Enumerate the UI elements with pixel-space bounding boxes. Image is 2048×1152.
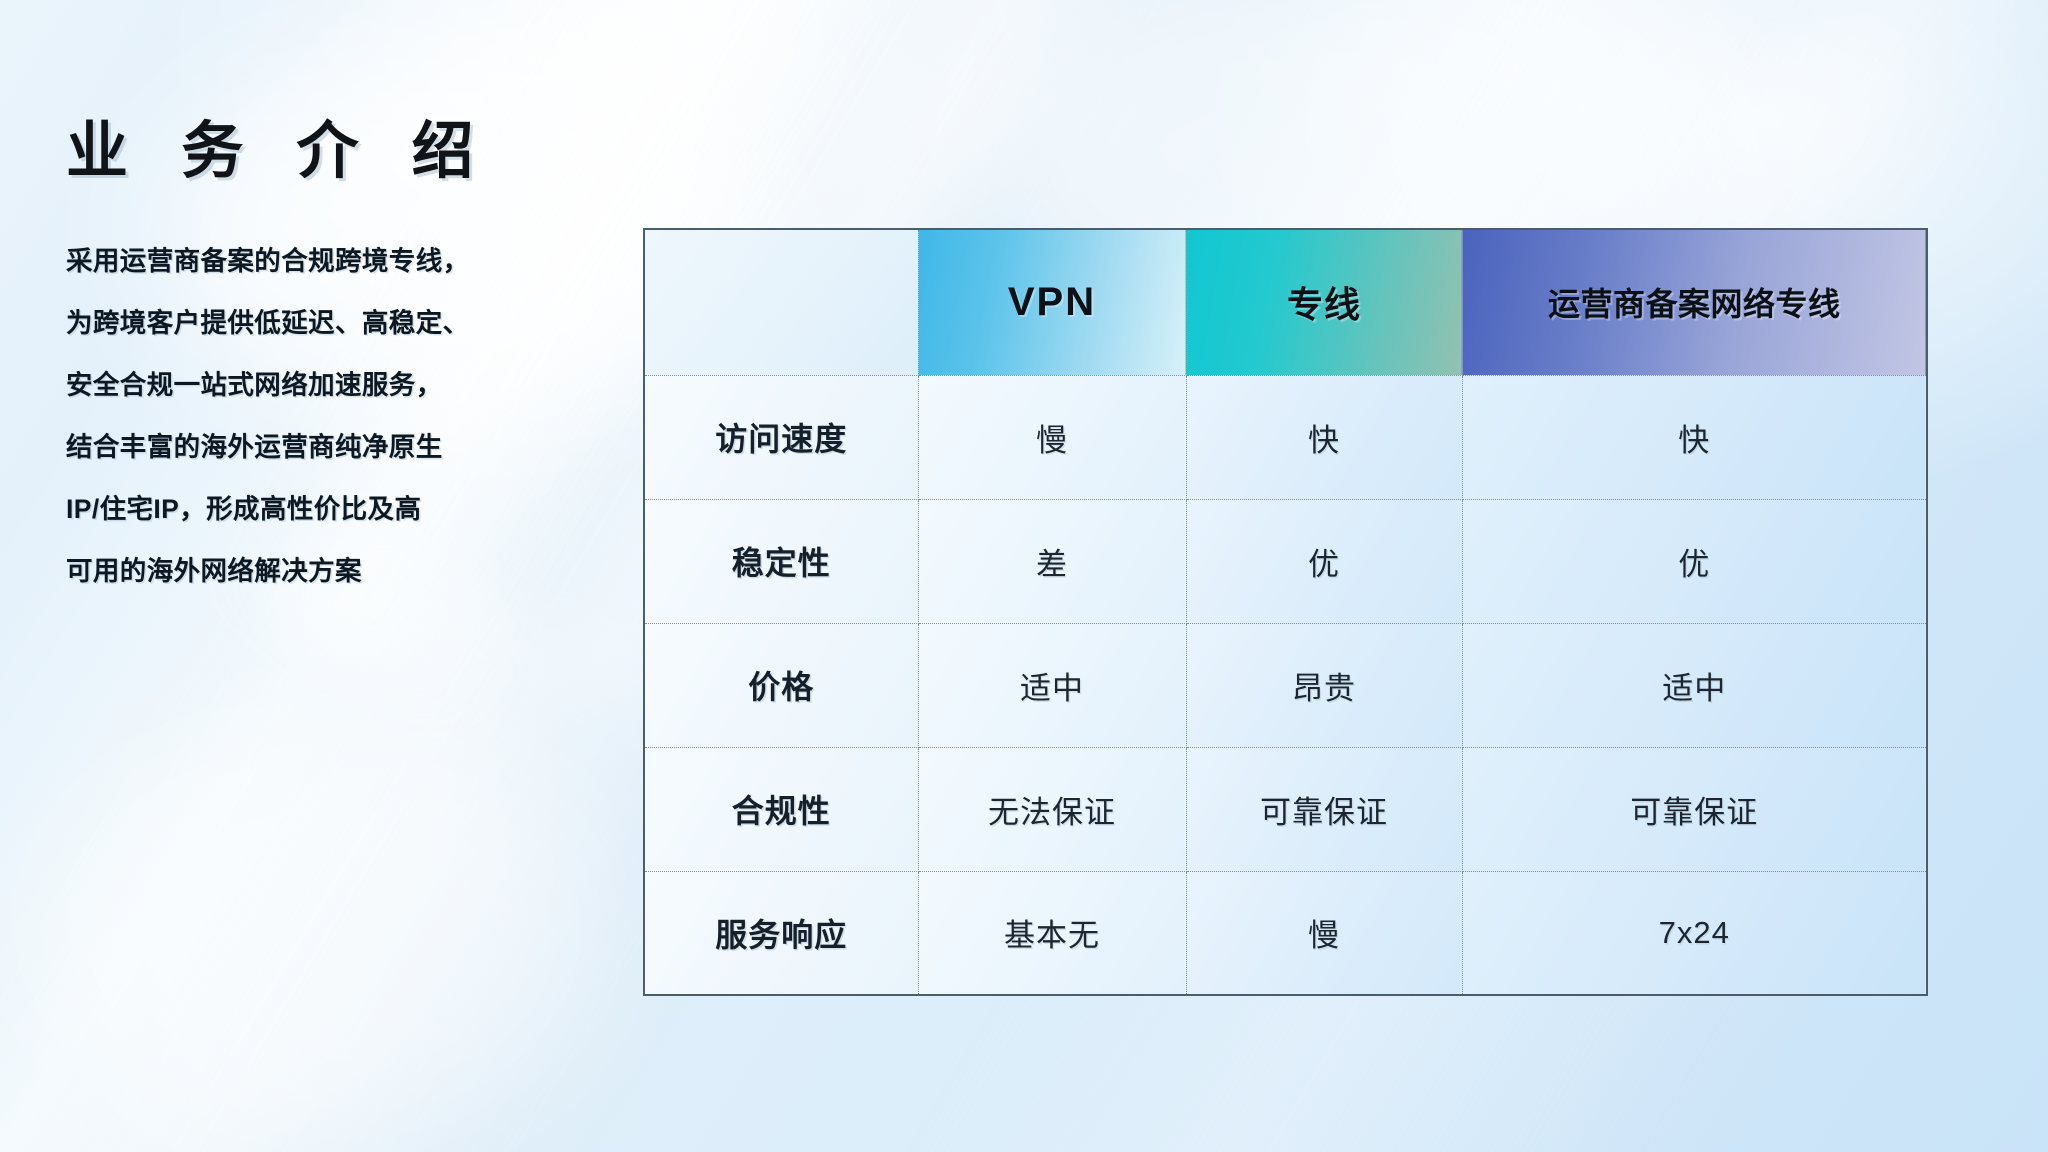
cell-service-response-filed-line: 7x24 [1462,871,1927,995]
table-row: 稳定性 差 优 优 [644,499,1927,623]
cell-compliance-dedicated-line: 可靠保证 [1186,747,1462,871]
cell-stability-filed-line: 优 [1462,499,1927,623]
description-line: IP/住宅IP，形成高性价比及高 [66,478,626,540]
table-header-filed-network-line-label: 运营商备案网络专线 [1548,286,1841,322]
table-header-filed-network-line: 运营商备案网络专线 [1462,229,1927,375]
cell-service-response-dedicated-line: 慢 [1186,871,1462,995]
description-line: 安全合规一站式网络加速服务， [66,354,626,416]
description-line: 可用的海外网络解决方案 [66,540,626,602]
description-paragraph: 采用运营商备案的合规跨境专线， 为跨境客户提供低延迟、高稳定、 安全合规一站式网… [66,230,626,602]
cell-access-speed-vpn: 慢 [918,375,1186,499]
table-header-vpn-label: VPN [1008,280,1096,324]
table-header-vpn: VPN [918,229,1186,375]
cell-compliance-vpn: 无法保证 [918,747,1186,871]
row-label-compliance: 合规性 [644,747,918,871]
table-row: 服务响应 基本无 慢 7x24 [644,871,1927,995]
cell-access-speed-dedicated-line: 快 [1186,375,1462,499]
table-row: 合规性 无法保证 可靠保证 可靠保证 [644,747,1927,871]
row-label-price: 价格 [644,623,918,747]
table-row: 访问速度 慢 快 快 [644,375,1927,499]
cell-access-speed-filed-line: 快 [1462,375,1927,499]
cell-stability-vpn: 差 [918,499,1186,623]
table-header-row: VPN 专线 运营商备案网络专线 [644,229,1927,375]
table-row: 价格 适中 昂贵 适中 [644,623,1927,747]
page-title: 业 务 介 绍 [66,100,492,190]
cell-stability-dedicated-line: 优 [1186,499,1462,623]
description-line: 结合丰富的海外运营商纯净原生 [66,416,626,478]
comparison-table: VPN 专线 运营商备案网络专线 访问速度 慢 快 快 稳定性 差 优 [643,228,1928,996]
row-label-stability: 稳定性 [644,499,918,623]
cell-price-vpn: 适中 [918,623,1186,747]
row-label-service-response: 服务响应 [644,871,918,995]
cell-service-response-vpn: 基本无 [918,871,1186,995]
table-header-dedicated-line-label: 专线 [1287,284,1361,325]
table-header-dedicated-line: 专线 [1186,229,1462,375]
slide-canvas: 业 务 介 绍 采用运营商备案的合规跨境专线， 为跨境客户提供低延迟、高稳定、 … [0,0,2048,1152]
row-label-access-speed: 访问速度 [644,375,918,499]
cell-price-dedicated-line: 昂贵 [1186,623,1462,747]
description-line: 采用运营商备案的合规跨境专线， [66,230,626,292]
table-header-blank [644,229,918,375]
description-line: 为跨境客户提供低延迟、高稳定、 [66,292,626,354]
background-glow [40,720,600,1140]
cell-compliance-filed-line: 可靠保证 [1462,747,1927,871]
cell-price-filed-line: 适中 [1462,623,1927,747]
